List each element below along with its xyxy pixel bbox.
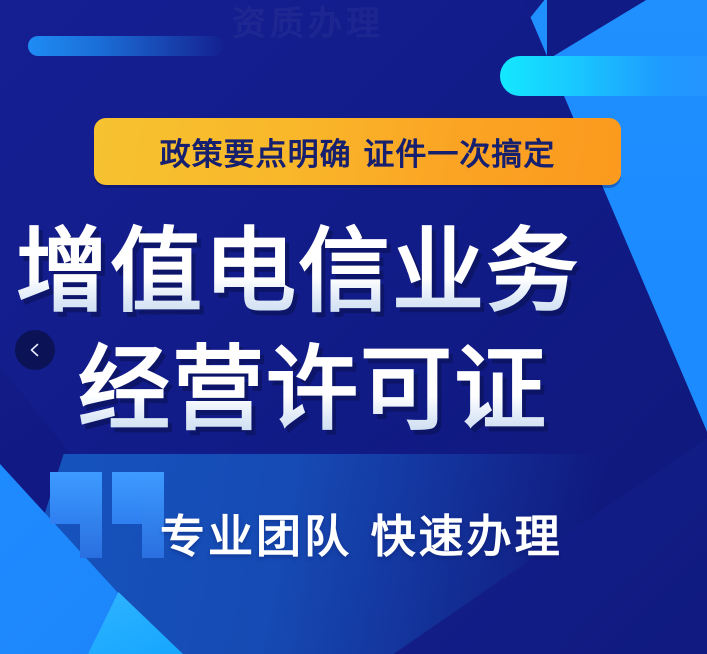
decorative-pill-cyan (500, 56, 707, 96)
chevron-left-icon (27, 342, 43, 358)
open-quote-icon (50, 472, 168, 558)
subtitle-text: 专业团队 快速办理 (160, 500, 563, 565)
promo-banner: 资质办理 政策要点明确 证件一次搞定 增值电信业务 经营许可证 专业团队 快速办… (0, 0, 707, 654)
headline-line-2: 经营许可证 (16, 340, 706, 440)
tagline-text: 政策要点明确 证件一次搞定 (160, 129, 556, 174)
headline-line-1: 增值电信业务 (16, 222, 706, 322)
carousel-prev-button[interactable] (15, 330, 55, 370)
decorative-pill-left (28, 36, 223, 56)
headline-block: 增值电信业务 经营许可证 (16, 222, 706, 440)
tagline-banner: 政策要点明确 证件一次搞定 (94, 118, 621, 185)
